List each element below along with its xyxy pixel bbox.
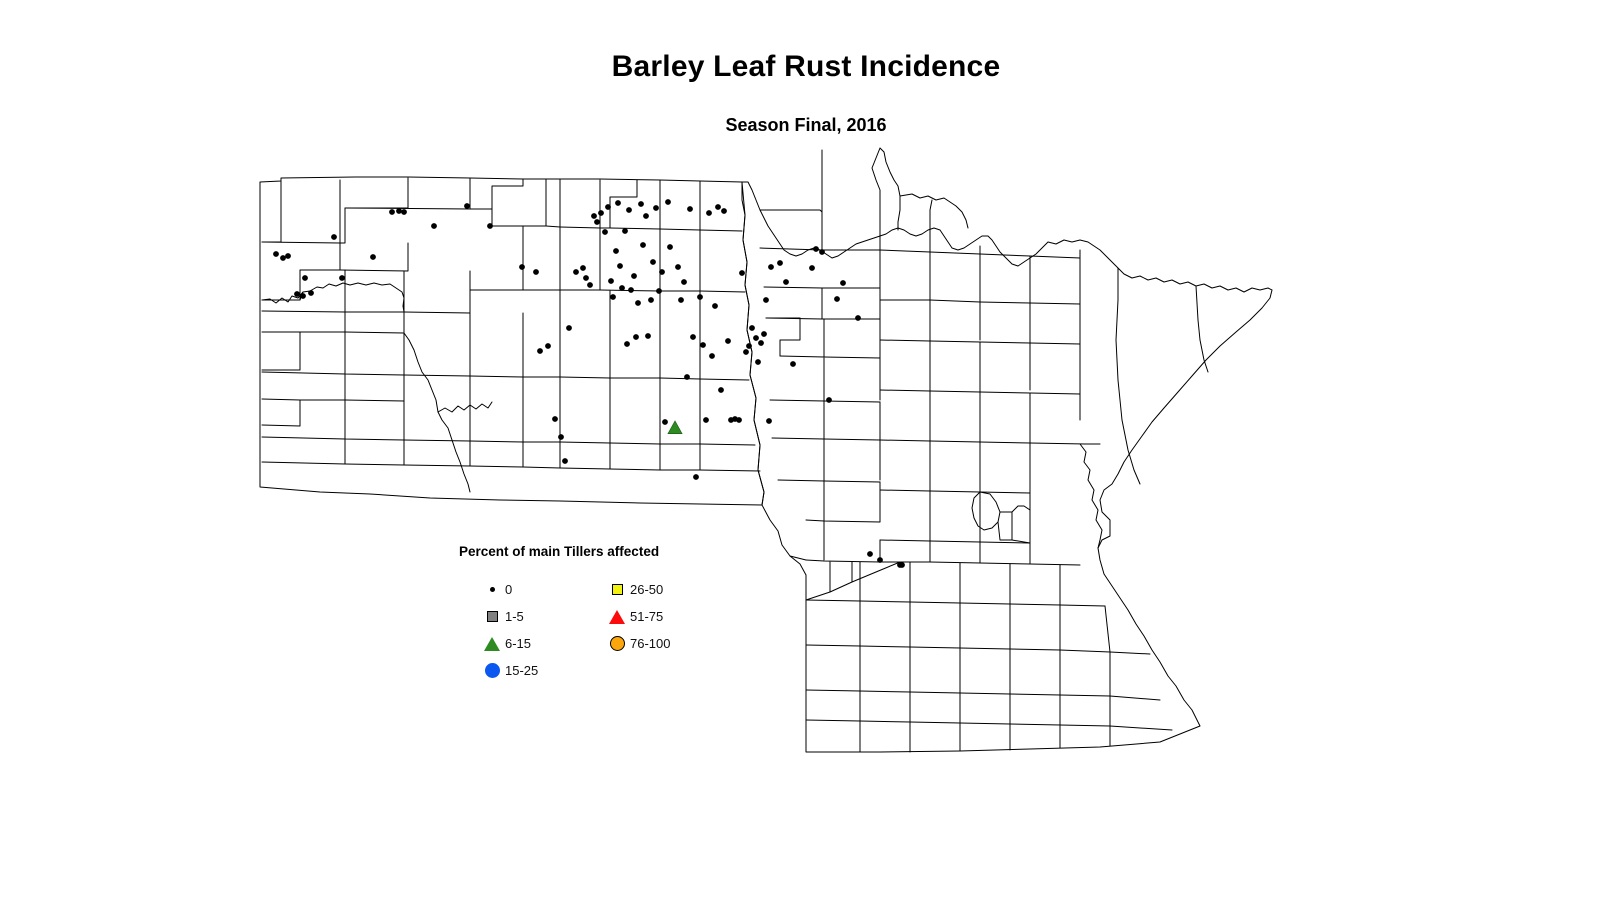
map-point-0 bbox=[605, 204, 611, 210]
map-point-0 bbox=[656, 288, 662, 294]
map-point-0 bbox=[643, 213, 649, 219]
map-point-0 bbox=[519, 264, 525, 270]
map-point-0 bbox=[826, 397, 832, 403]
map-point-0 bbox=[763, 297, 769, 303]
map-point-0 bbox=[684, 374, 690, 380]
map-point-0 bbox=[464, 203, 470, 209]
legend-item-26-50[interactable]: 26-50 bbox=[604, 576, 670, 603]
map-point-0 bbox=[877, 557, 883, 563]
map-point-0 bbox=[678, 297, 684, 303]
map-point-0 bbox=[545, 343, 551, 349]
legend-symbol-wrap bbox=[604, 610, 630, 624]
map-point-0 bbox=[628, 287, 634, 293]
map-point-0 bbox=[487, 223, 493, 229]
legend-item-label: 6-15 bbox=[505, 636, 531, 651]
legend-columns: 01-56-1515-25 26-5051-7576-100 bbox=[459, 576, 779, 681]
map-point-0 bbox=[566, 325, 572, 331]
legend-item-label: 0 bbox=[505, 582, 512, 597]
map-point-0 bbox=[739, 270, 745, 276]
legend-symbol-circle bbox=[485, 663, 500, 678]
legend-symbol-wrap bbox=[604, 636, 630, 651]
map-point-0 bbox=[665, 199, 671, 205]
map-point-0 bbox=[899, 562, 905, 568]
map-point-0 bbox=[725, 338, 731, 344]
map-point-0 bbox=[715, 204, 721, 210]
map-point-0 bbox=[819, 249, 825, 255]
map-point-0 bbox=[667, 244, 673, 250]
map-point-0 bbox=[431, 223, 437, 229]
legend-item-label: 51-75 bbox=[630, 609, 663, 624]
map-point-0 bbox=[736, 417, 742, 423]
map-point-0 bbox=[690, 334, 696, 340]
map-point-0 bbox=[867, 551, 873, 557]
map-point-0 bbox=[721, 208, 727, 214]
map-point-0 bbox=[300, 293, 306, 299]
map-point-0 bbox=[613, 248, 619, 254]
legend-item-label: 1-5 bbox=[505, 609, 524, 624]
map-point-6-15 bbox=[668, 421, 682, 434]
legend-item-label: 15-25 bbox=[505, 663, 538, 678]
legend-column-left: 01-56-1515-25 bbox=[479, 576, 538, 684]
map-point-0 bbox=[273, 251, 279, 257]
legend-symbol-wrap bbox=[479, 611, 505, 622]
map-point-0 bbox=[753, 335, 759, 341]
map-point-0 bbox=[617, 263, 623, 269]
map-point-0 bbox=[645, 333, 651, 339]
map-point-0 bbox=[624, 341, 630, 347]
map-point-0 bbox=[693, 474, 699, 480]
map-point-0 bbox=[339, 275, 345, 281]
map-point-0 bbox=[537, 348, 543, 354]
map-point-0 bbox=[302, 275, 308, 281]
map-point-0 bbox=[813, 246, 819, 252]
map-point-0 bbox=[768, 264, 774, 270]
map-point-0 bbox=[583, 275, 589, 281]
legend-symbol-square bbox=[612, 584, 623, 595]
legend-item-51-75[interactable]: 51-75 bbox=[604, 603, 670, 630]
map-point-0 bbox=[598, 210, 604, 216]
map-point-0 bbox=[648, 297, 654, 303]
map-figure: Barley Leaf Rust Incidence Season Final,… bbox=[0, 0, 1612, 900]
legend-column-right: 26-5051-7576-100 bbox=[604, 576, 670, 657]
legend-item-0[interactable]: 0 bbox=[479, 576, 538, 603]
map-point-0 bbox=[640, 242, 646, 248]
map-point-0 bbox=[635, 300, 641, 306]
map-point-0 bbox=[533, 269, 539, 275]
map-point-0 bbox=[401, 209, 407, 215]
map-point-0 bbox=[370, 254, 376, 260]
legend-item-76-100[interactable]: 76-100 bbox=[604, 630, 670, 657]
map-point-0 bbox=[653, 205, 659, 211]
map-point-0 bbox=[687, 206, 693, 212]
map-point-0 bbox=[631, 273, 637, 279]
map-point-0 bbox=[766, 418, 772, 424]
map-point-0 bbox=[615, 200, 621, 206]
map-point-0 bbox=[761, 331, 767, 337]
legend-symbol-wrap bbox=[604, 584, 630, 595]
state-outline-minnesota bbox=[742, 182, 1272, 752]
map-point-0 bbox=[608, 278, 614, 284]
legend-symbol-triangle bbox=[484, 637, 500, 651]
map-point-0 bbox=[573, 269, 579, 275]
map-point-0 bbox=[622, 228, 628, 234]
legend-item-label: 76-100 bbox=[630, 636, 670, 651]
map-point-0 bbox=[285, 253, 291, 259]
incidence-data-points bbox=[273, 199, 905, 568]
map-point-0 bbox=[591, 213, 597, 219]
legend-symbol-circle bbox=[610, 636, 625, 651]
map-point-0 bbox=[633, 334, 639, 340]
map-point-0 bbox=[562, 458, 568, 464]
map-point-0 bbox=[834, 296, 840, 302]
legend-item-1-5[interactable]: 1-5 bbox=[479, 603, 538, 630]
map-point-0 bbox=[610, 294, 616, 300]
map-point-0 bbox=[294, 291, 300, 297]
map-point-0 bbox=[675, 264, 681, 270]
legend-symbol-triangle bbox=[609, 610, 625, 624]
legend-item-label: 26-50 bbox=[630, 582, 663, 597]
map-point-0 bbox=[681, 279, 687, 285]
map-point-0 bbox=[749, 325, 755, 331]
legend-title: Percent of main Tillers affected bbox=[459, 544, 779, 559]
map-point-0 bbox=[790, 361, 796, 367]
map-point-0 bbox=[709, 353, 715, 359]
map-point-0 bbox=[746, 343, 752, 349]
map-point-0 bbox=[712, 303, 718, 309]
map-point-0 bbox=[580, 265, 586, 271]
map-point-0 bbox=[280, 255, 286, 261]
legend-symbol-dot bbox=[490, 587, 495, 592]
map-point-0 bbox=[718, 387, 724, 393]
map-point-0 bbox=[662, 419, 668, 425]
map-point-0 bbox=[703, 417, 709, 423]
map-point-0 bbox=[638, 201, 644, 207]
legend-symbol-square bbox=[487, 611, 498, 622]
map-point-0 bbox=[777, 260, 783, 266]
map-point-0 bbox=[783, 279, 789, 285]
legend-symbol-wrap bbox=[479, 663, 505, 678]
map-point-0 bbox=[700, 342, 706, 348]
map-point-0 bbox=[697, 294, 703, 300]
map-point-0 bbox=[594, 219, 600, 225]
legend-symbol-wrap bbox=[479, 637, 505, 651]
map-point-0 bbox=[602, 229, 608, 235]
map-point-0 bbox=[755, 359, 761, 365]
legend-symbol-wrap bbox=[479, 587, 505, 592]
map-point-0 bbox=[659, 269, 665, 275]
state-county-map bbox=[0, 0, 1612, 900]
map-point-0 bbox=[840, 280, 846, 286]
map-canvas bbox=[0, 0, 1612, 900]
map-point-0 bbox=[743, 349, 749, 355]
legend: Percent of main Tillers affected 01-56-1… bbox=[459, 544, 779, 681]
map-point-0 bbox=[396, 208, 402, 214]
map-point-0 bbox=[619, 285, 625, 291]
map-point-0 bbox=[587, 282, 593, 288]
map-point-0 bbox=[626, 207, 632, 213]
map-point-0 bbox=[558, 434, 564, 440]
map-point-0 bbox=[308, 290, 314, 296]
map-point-0 bbox=[855, 315, 861, 321]
map-point-0 bbox=[331, 234, 337, 240]
map-point-0 bbox=[650, 259, 656, 265]
map-point-0 bbox=[809, 265, 815, 271]
map-point-0 bbox=[706, 210, 712, 216]
map-point-0 bbox=[389, 209, 395, 215]
legend-item-15-25[interactable]: 15-25 bbox=[479, 657, 538, 684]
map-point-0 bbox=[552, 416, 558, 422]
legend-item-6-15[interactable]: 6-15 bbox=[479, 630, 538, 657]
map-point-0 bbox=[758, 340, 764, 346]
